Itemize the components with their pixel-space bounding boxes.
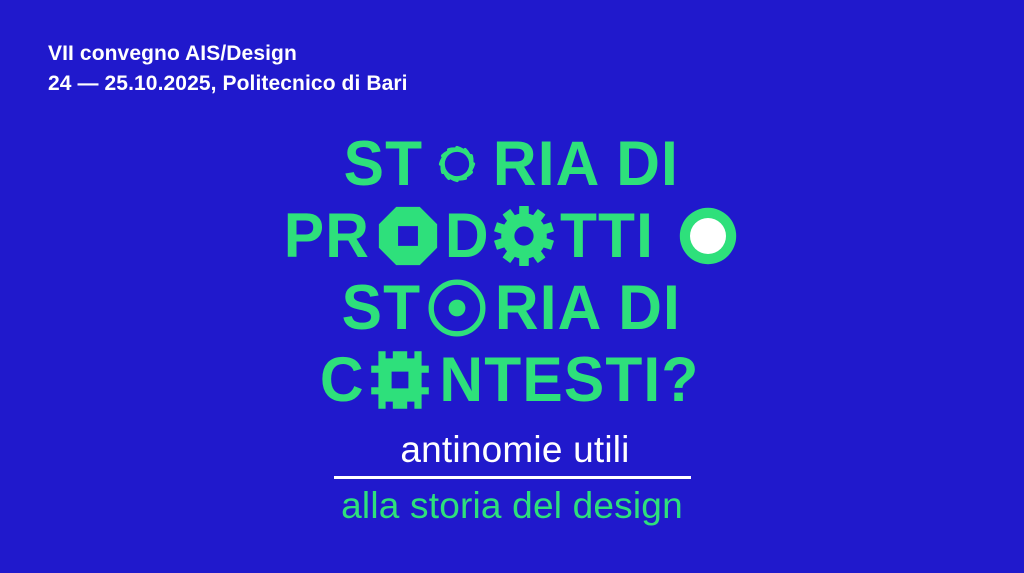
octagon-square-hole-icon (377, 205, 439, 267)
title-line-4-after: NTESTI? (439, 349, 699, 412)
title-line-4: C NTESTI? (0, 344, 1024, 416)
event-title-line: VII convegno AIS/Design (48, 39, 408, 69)
title-line-4-before: C (320, 349, 365, 412)
subtitle-underline-rule (334, 476, 691, 479)
title-line-1-after: RIA DI (492, 133, 678, 196)
subtitle-line-1: antinomie utili (0, 430, 1024, 470)
title-line-1-before: ST (343, 133, 423, 196)
title-line-3-after: RIA DI (494, 277, 680, 340)
subtitle-block: antinomie utili alla storia del design (0, 430, 1024, 526)
main-title: ST (0, 128, 1024, 416)
title-line-2-middle: D (444, 205, 489, 268)
title-line-2-after: TTI (560, 205, 654, 268)
gear-cog-icon (494, 206, 554, 266)
title-line-2-before: PR (283, 205, 369, 268)
title-line-3-before: ST (341, 277, 421, 340)
event-date-venue-line: 24 — 25.10.2025, Politecnico di Bari (48, 69, 408, 99)
title-line-1: ST (0, 128, 1024, 200)
cross-gear-square-hole-icon (370, 350, 430, 410)
pinwheel-spiral-icon (428, 135, 486, 193)
title-line-2: PR D (0, 200, 1024, 272)
title-line-3: ST RIA DI (0, 272, 1024, 344)
filled-white-ring-icon (678, 206, 738, 266)
subtitle-line-2: alla storia del design (0, 486, 1024, 526)
bullseye-target-icon (427, 278, 487, 338)
event-header: VII convegno AIS/Design 24 — 25.10.2025,… (48, 39, 408, 99)
poster-canvas: VII convegno AIS/Design 24 — 25.10.2025,… (0, 0, 1024, 573)
